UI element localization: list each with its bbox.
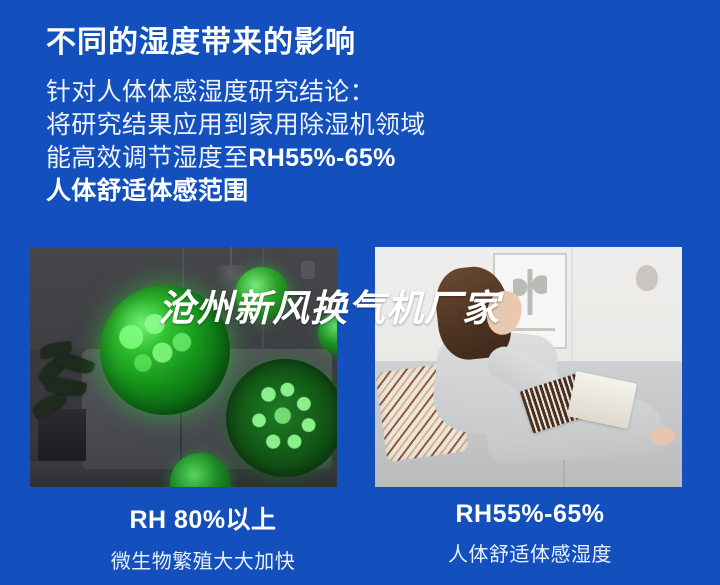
- woman-foot: [651, 427, 675, 445]
- page-title: 不同的湿度带来的影响: [46, 17, 356, 61]
- intro-line-3-highlight: RH55%-65%: [248, 144, 395, 172]
- caption-left: RH 80%以上 微生物繁殖大大加快: [58, 500, 348, 574]
- photo-row: [0, 243, 720, 491]
- caption-right-subtitle: 人体舒适体感湿度: [385, 538, 675, 567]
- photo-right-comfort-humidity: [375, 247, 682, 487]
- intro-line-3: 能高效调节湿度至RH55%-65%: [46, 142, 486, 175]
- bright-wall-seam-icon: [571, 247, 573, 365]
- wall-knob-icon: [636, 265, 658, 291]
- virus-sphere-icon: [226, 359, 337, 477]
- intro-line-1: 针对人体体感湿度研究结论：: [46, 76, 486, 109]
- germ-cluster-large-icon: [100, 285, 230, 415]
- intro-line-2: 将研究结果应用到家用除湿机领域: [46, 109, 486, 142]
- caption-left-subtitle: 微生物繁殖大大加快: [58, 545, 348, 574]
- photo-left-high-humidity: [30, 247, 337, 487]
- caption-left-title: RH 80%以上: [58, 500, 348, 536]
- plant-pot-icon: [38, 409, 86, 461]
- germ-medium-icon: [235, 267, 289, 321]
- intro-line-4: 人体舒适体感范围: [46, 175, 486, 208]
- caption-right: RH55%-65% 人体舒适体感湿度: [385, 500, 675, 567]
- dark-sofa-cushion-seam: [180, 413, 182, 465]
- intro-paragraph: 针对人体体感湿度研究结论： 将研究结果应用到家用除湿机领域 能高效调节湿度至RH…: [46, 76, 486, 208]
- intro-line-3-text: 能高效调节湿度至: [46, 144, 248, 172]
- wall-switch-icon: [301, 261, 315, 279]
- caption-right-title: RH55%-65%: [385, 500, 675, 529]
